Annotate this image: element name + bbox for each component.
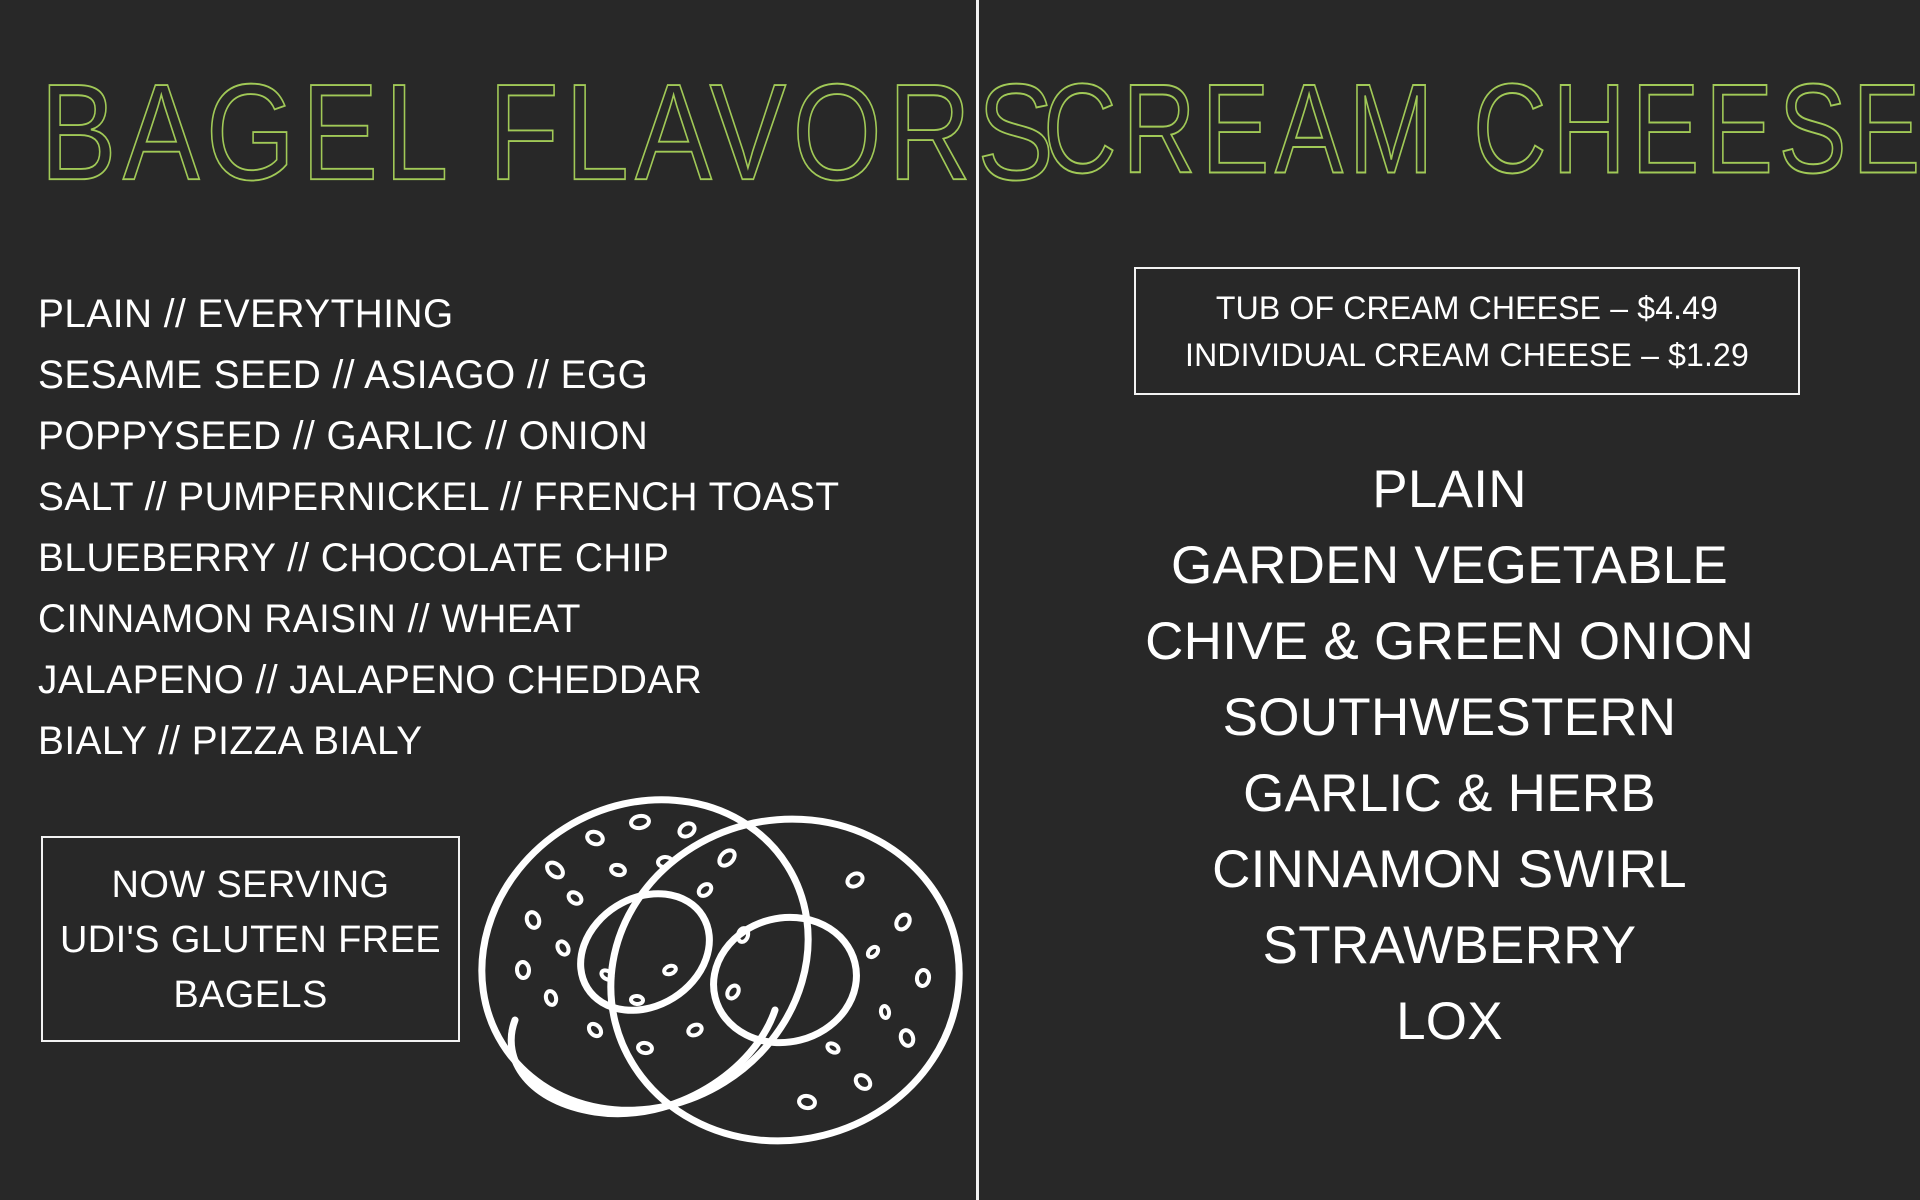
cream-cheese-title: CREAM CHEESE <box>1043 67 1920 194</box>
list-item: GARLIC & HERB <box>979 756 1920 832</box>
callout-line: NOW SERVING <box>43 858 458 913</box>
callout-line: BAGELS <box>43 968 458 1023</box>
list-item: CINNAMON RAISIN // WHEAT <box>38 589 930 650</box>
cream-cheese-flavor-list: PLAIN GARDEN VEGETABLE CHIVE & GREEN ONI… <box>979 452 1920 1060</box>
list-item: PLAIN // EVERYTHING <box>38 284 930 345</box>
list-item: BLUEBERRY // CHOCOLATE CHIP <box>38 528 930 589</box>
list-item: SESAME SEED // ASIAGO // EGG <box>38 345 930 406</box>
list-item: POPPYSEED // GARLIC // ONION <box>38 406 930 467</box>
menu-board: BAGEL FLAVORS PLAIN // EVERYTHING SESAME… <box>0 0 1920 1200</box>
price-line-individual: INDIVIDUAL CREAM CHEESE – $1.29 <box>1136 332 1798 379</box>
list-item: GARDEN VEGETABLE <box>979 528 1920 604</box>
list-item: SALT // PUMPERNICKEL // FRENCH TOAST <box>38 467 930 528</box>
bagel-flavors-panel: BAGEL FLAVORS PLAIN // EVERYTHING SESAME… <box>0 0 976 1200</box>
cream-cheese-price-box: TUB OF CREAM CHEESE – $4.49 INDIVIDUAL C… <box>1134 267 1800 395</box>
list-item: JALAPENO // JALAPENO CHEDDAR <box>38 650 930 711</box>
price-line-tub: TUB OF CREAM CHEESE – $4.49 <box>1136 285 1798 332</box>
list-item: CINNAMON SWIRL <box>979 832 1920 908</box>
list-item: CHIVE & GREEN ONION <box>979 604 1920 680</box>
gluten-free-callout-box: NOW SERVING UDI'S GLUTEN FREE BAGELS <box>41 836 460 1042</box>
bagel-illustration <box>455 730 985 1200</box>
callout-line: UDI'S GLUTEN FREE <box>43 913 458 968</box>
list-item: LOX <box>979 984 1920 1060</box>
list-item: PLAIN <box>979 452 1920 528</box>
list-item: STRAWBERRY <box>979 908 1920 984</box>
list-item: BIALY // PIZZA BIALY <box>38 711 930 772</box>
bagel-flavor-list: PLAIN // EVERYTHING SESAME SEED // ASIAG… <box>38 284 958 772</box>
list-item: SOUTHWESTERN <box>979 680 1920 756</box>
bagel-flavors-title: BAGEL FLAVORS <box>40 64 1060 201</box>
